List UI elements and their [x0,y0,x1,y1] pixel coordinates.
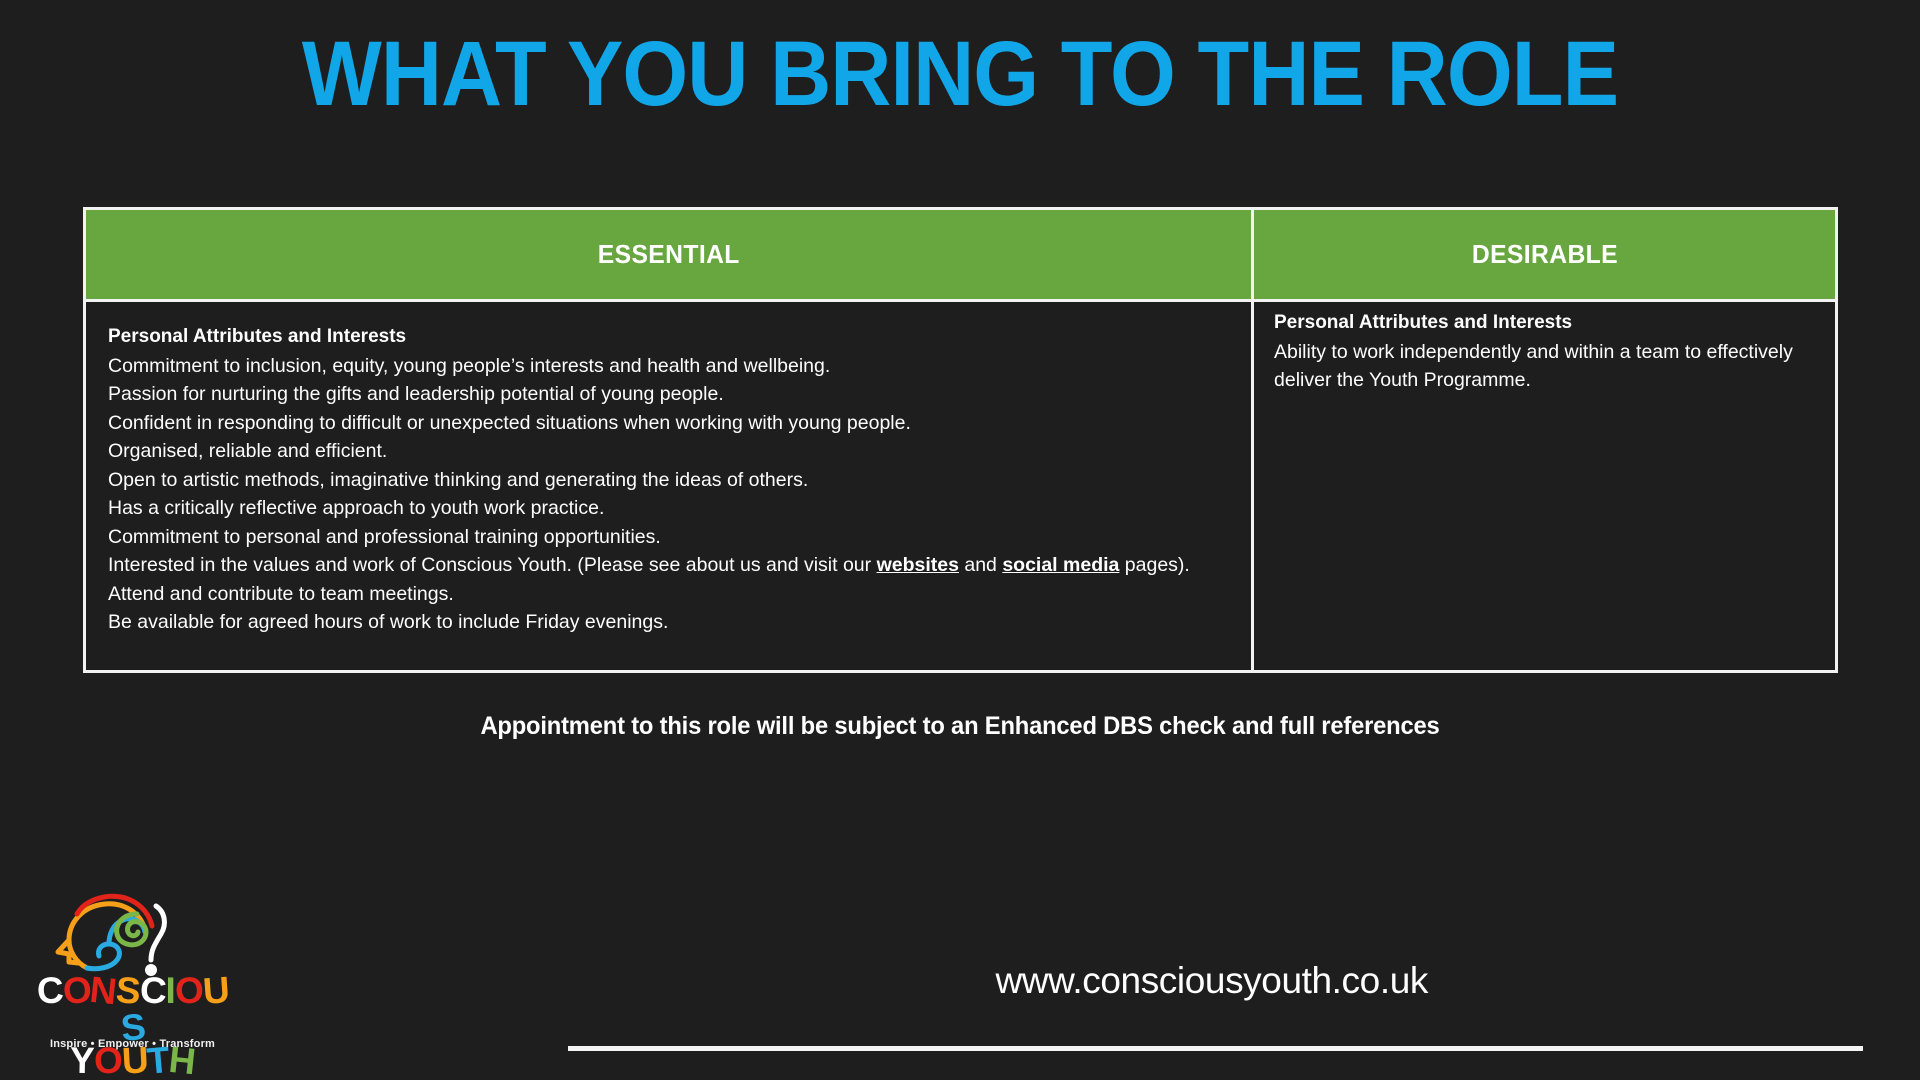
essential-line: Passion for nurturing the gifts and lead… [108,380,1231,408]
logo-letter: S [115,971,141,1010]
logo-letter: O [61,971,92,1010]
logo-letter: C [139,972,166,1010]
logo-letter: C [36,971,64,1009]
logo-tagline: Inspire • Empower • Transform [25,1038,240,1050]
logo-word-conscious: CONSCIOUS [37,970,228,1048]
table-header-essential: ESSENTIAL [86,210,1254,299]
essential-line: Has a critically reflective approach to … [108,494,1231,522]
essential-line: Commitment to personal and professional … [108,523,1231,551]
websites-link[interactable]: websites [877,554,959,576]
table-header-essential-label: ESSENTIAL [597,239,739,270]
logo-letter: U [201,971,229,1010]
cell-desirable: Personal Attributes and Interests Abilit… [1254,302,1835,670]
link-line-after: pages). [1119,554,1189,576]
table-header-desirable: DESIRABLE [1254,210,1835,299]
link-line-before: Interested in the values and work of Con… [108,554,877,576]
logo-wordmark: CONSCIOUS YOUTH [25,972,240,1079]
essential-heading: Personal Attributes and Interests [108,324,1231,351]
logo-letter: N [88,971,117,1010]
essential-line: Confident in responding to difficult or … [108,409,1231,437]
essential-line: Commitment to inclusion, equity, young p… [108,352,1231,380]
footer-divider [568,1046,1863,1051]
table-header-desirable-label: DESIRABLE [1471,239,1617,270]
website-url[interactable]: www.consciousyouth.co.uk [995,960,1428,1002]
social-media-link[interactable]: social media [1002,554,1119,576]
logo-letter: I [165,972,174,1009]
essential-line: Be available for agreed hours of work to… [108,608,1231,636]
table-body-row: Personal Attributes and Interests Commit… [86,302,1835,670]
logo-letter: O [174,972,203,1010]
table-header-row: ESSENTIAL DESIRABLE [86,210,1835,302]
requirements-table: ESSENTIAL DESIRABLE Personal Attributes … [83,207,1838,673]
slide-root: WHAT YOU BRING TO THE ROLE ESSENTIAL DES… [0,0,1920,1080]
page-title: WHAT YOU BRING TO THE ROLE [77,26,1843,123]
desirable-paragraph: Ability to work independently and within… [1274,338,1815,394]
conscious-youth-logo: CONSCIOUS YOUTH Inspire • Empower • Tran… [25,890,240,1060]
essential-line-with-links: Interested in the values and work of Con… [108,551,1231,579]
essential-line: Attend and contribute to team meetings. [108,580,1231,608]
essential-line: Organised, reliable and efficient. [108,437,1231,465]
head-spiral-icon [25,890,240,980]
desirable-heading: Personal Attributes and Interests [1274,310,1815,337]
essential-line: Open to artistic methods, imaginative th… [108,466,1231,494]
link-line-middle: and [959,554,1002,576]
cell-essential: Personal Attributes and Interests Commit… [86,302,1254,670]
dbs-note: Appointment to this role will be subject… [48,712,1872,741]
